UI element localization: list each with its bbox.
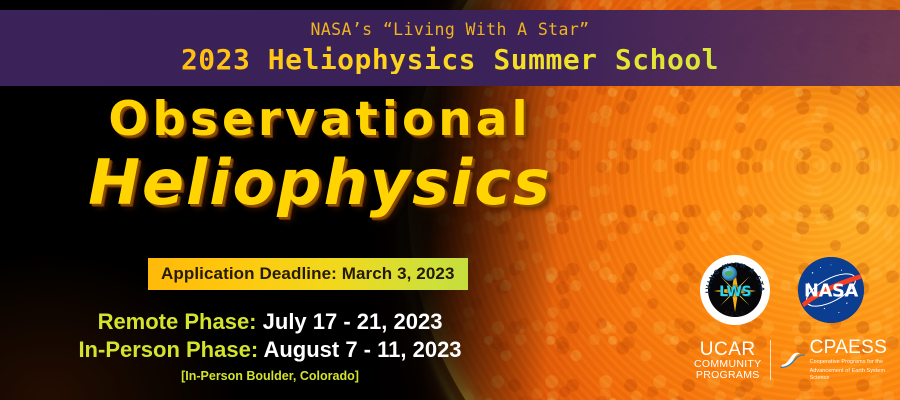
lws-logo: LIVING WITH A STAR NASA LWS: [700, 255, 770, 325]
agency-logo-row: LIVING WITH A STAR NASA LWS: [700, 252, 890, 328]
location-note: [In-Person Boulder, Colorado]: [0, 369, 540, 383]
phase-in-person-label: In-Person Phase:: [78, 337, 258, 362]
lws-arc-text: LIVING WITH A STAR NASA: [700, 255, 770, 325]
svg-text:NASA: NASA: [804, 281, 859, 302]
ucar-logo: UCAR COMMUNITY PROGRAMS: [694, 340, 770, 381]
application-deadline-banner: Application Deadline: March 3, 2023: [148, 258, 468, 290]
cpaess-logo: CPAESS Cooperative Programs for the Adva…: [771, 338, 891, 382]
ucar-line-programs: PROGRAMS: [694, 370, 761, 381]
phase-remote-date: July 17 - 21, 2023: [263, 309, 443, 334]
cpaess-wave-icon: [779, 347, 806, 373]
cpaess-name: CPAESS: [810, 338, 892, 357]
svg-text:NASA: NASA: [723, 308, 748, 319]
cpaess-text-block: CPAESS Cooperative Programs for the Adva…: [810, 338, 892, 382]
partner-logo-row: UCAR COMMUNITY PROGRAMS CPAESS Cooperati…: [694, 336, 890, 384]
phase-in-person-date: August 7 - 11, 2023: [263, 337, 461, 362]
title-line-observational: Observational: [0, 96, 640, 143]
header-title: 2023 Heliophysics Summer School: [181, 46, 719, 74]
header-eyebrow: NASA’s “Living With A Star”: [310, 22, 589, 39]
svg-text:LIVING WITH A STAR: LIVING WITH A STAR: [700, 255, 765, 293]
page-title: Observational Heliophysics: [0, 96, 640, 214]
title-line-heliophysics: Heliophysics: [0, 152, 640, 214]
cpaess-tagline-line1: Cooperative Programs for the: [810, 359, 892, 366]
poster-banner: NASA’s “Living With A Star” 2023 Helioph…: [0, 0, 900, 400]
phase-schedule: Remote Phase: July 17 - 21, 2023 In-Pers…: [0, 308, 540, 383]
header-band: NASA’s “Living With A Star” 2023 Helioph…: [0, 10, 900, 86]
nasa-logo: NASA: [798, 257, 864, 323]
phase-remote: Remote Phase: July 17 - 21, 2023: [0, 308, 540, 336]
ucar-name: UCAR: [694, 340, 761, 359]
cpaess-tagline-line2: Advancement of Earth System Science: [810, 368, 892, 382]
phase-remote-label: Remote Phase:: [98, 309, 257, 334]
phase-in-person: In-Person Phase: August 7 - 11, 2023: [0, 336, 540, 364]
nasa-meatball-icon: NASA: [798, 257, 864, 323]
